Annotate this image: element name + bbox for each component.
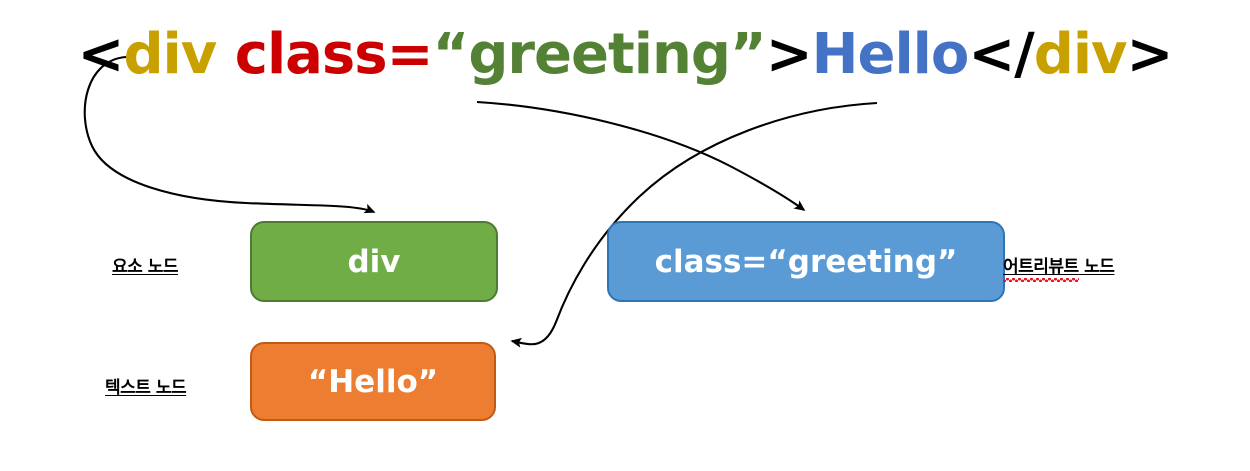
caption-attribute-node-text-misspelled: 어트리뷰트	[1003, 252, 1079, 277]
caption-element-node-text: 요소 노드	[112, 257, 178, 277]
code-snippet: <div class=“greeting”>Hello</div>	[0, 26, 1250, 85]
code-token-angle-bracket-open: <	[78, 22, 124, 87]
caption-attribute-node: 어트리뷰트 노드	[1003, 252, 1114, 277]
caption-text-node-text: 텍스트 노드	[105, 378, 186, 398]
code-token-angle-bracket-close: >	[766, 22, 812, 87]
element-node-label: div	[347, 244, 400, 280]
caption-attribute-node-text-suffix: 노드	[1079, 257, 1115, 277]
text-node-label: “Hello”	[308, 364, 438, 400]
code-token-attribute-value: “greeting”	[433, 22, 766, 87]
code-token-closing-tag-name: div	[1034, 22, 1127, 87]
code-token-text-content: Hello	[812, 22, 969, 87]
caption-element-node: 요소 노드	[112, 252, 178, 277]
attribute-node-label: class=“greeting”	[655, 244, 958, 280]
caption-text-node: 텍스트 노드	[105, 373, 186, 398]
text-node-box[interactable]: “Hello”	[250, 342, 496, 421]
code-token-closing-angle: >	[1127, 22, 1173, 87]
code-token-closing-bracket: </	[968, 22, 1033, 87]
arrow-attribute-to-attribute-node	[477, 102, 804, 210]
code-token-attribute-name: class=	[216, 22, 432, 87]
diagram-canvas: <div class=“greeting”>Hello</div> div cl…	[0, 0, 1250, 471]
attribute-node-box[interactable]: class=“greeting”	[607, 221, 1005, 302]
element-node-box[interactable]: div	[250, 221, 498, 302]
code-token-tag-name: div	[123, 22, 216, 87]
